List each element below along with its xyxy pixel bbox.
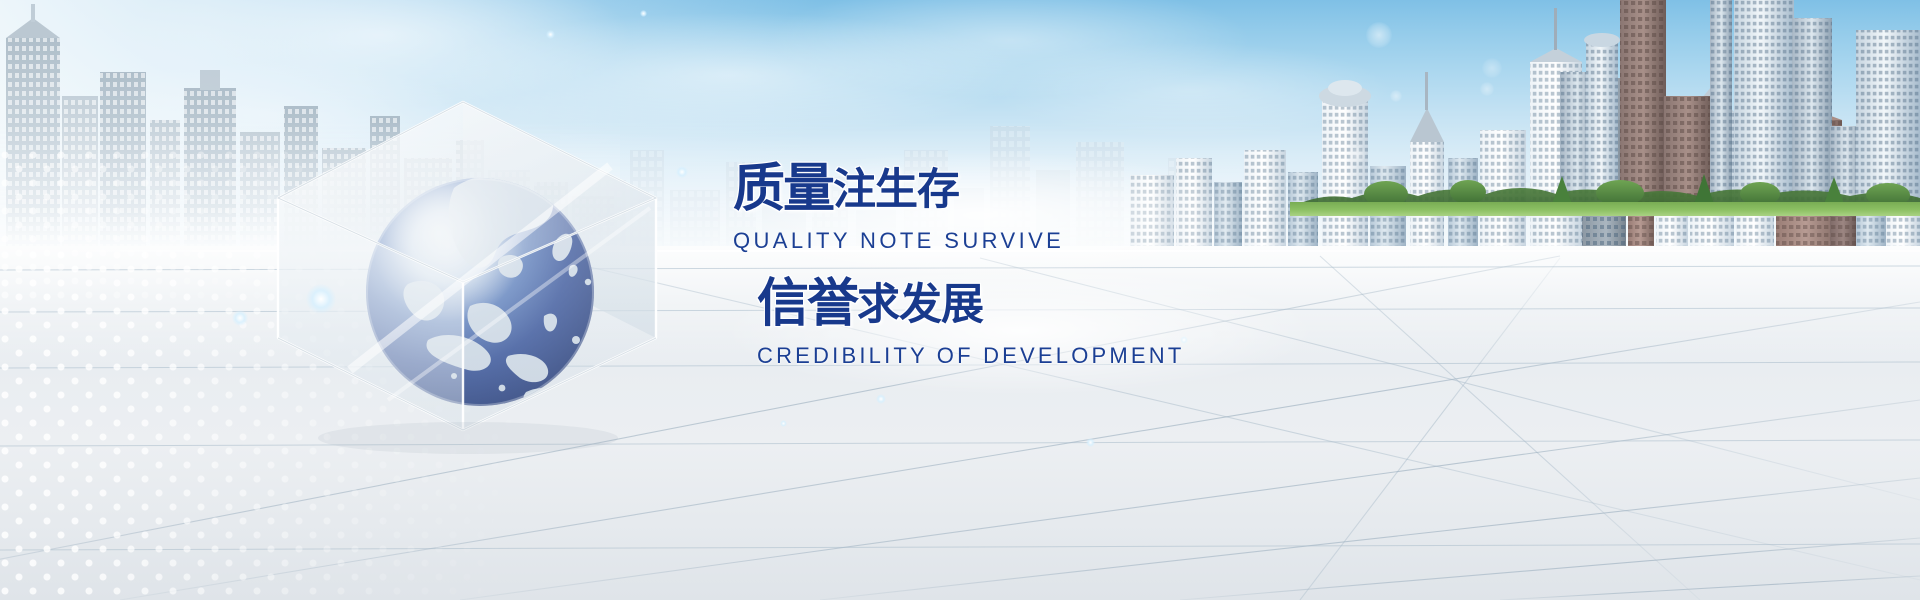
slogan-quality-en: QUALITY NOTE SURVIVE (733, 228, 1064, 254)
green-lawn-trees (1290, 168, 1920, 216)
glass-cube-globe (258, 70, 678, 470)
slogan-credibility-cn-tail: 求发展 (857, 281, 983, 329)
slogan-quality-cn-lead: 质量 (733, 160, 833, 218)
slogan-credibility-en: CREDIBILITY OF DEVELOPMENT (757, 343, 1185, 369)
slogan-quality: 质量注生存 QUALITY NOTE SURVIVE (733, 163, 1064, 254)
slogan-credibility-cn-lead: 信誉 (757, 275, 857, 333)
slogan-credibility: 信誉求发展 CREDIBILITY OF DEVELOPMENT (757, 278, 1185, 369)
slogan-quality-cn: 质量注生存 (733, 163, 1064, 215)
promo-banner: 质量注生存 QUALITY NOTE SURVIVE 信誉求发展 CREDIBI… (0, 0, 1920, 600)
slogan-quality-cn-tail: 注生存 (833, 166, 959, 214)
slogan-credibility-cn: 信誉求发展 (757, 278, 1185, 330)
